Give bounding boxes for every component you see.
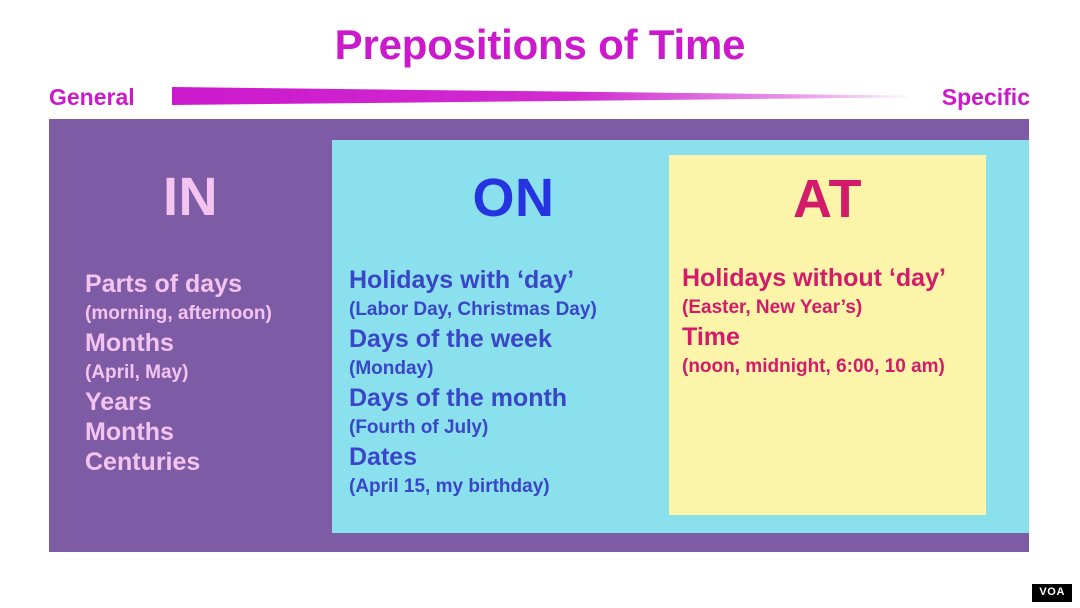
- generality-scale: General Specific: [49, 82, 1030, 112]
- scale-label-general: General: [49, 82, 135, 112]
- item-main-text: Holidays without ‘day’: [682, 263, 986, 293]
- list-item: Months (April, May): [85, 328, 330, 387]
- column-heading-on: ON: [332, 171, 695, 225]
- tapering-gradient-arrow: [172, 82, 907, 112]
- item-main-text: Centuries: [85, 447, 330, 477]
- item-main-text: Months: [85, 328, 330, 358]
- column-panel-on: ON Holidays with ‘day’ (Labor Day, Chris…: [332, 140, 1029, 533]
- page-title: Prepositions of Time: [0, 24, 1080, 66]
- column-panel-in: IN Parts of days (morning, afternoon) Mo…: [49, 119, 1029, 552]
- list-item: Years: [85, 387, 330, 417]
- list-item: Days of the month (Fourth of July): [349, 383, 695, 442]
- item-list-in: Parts of days (morning, afternoon) Month…: [85, 269, 330, 477]
- column-heading-in: IN: [49, 170, 332, 224]
- item-main-text: Years: [85, 387, 330, 417]
- item-sub-text: (Easter, New Year’s): [682, 293, 986, 322]
- item-main-text: Months: [85, 417, 330, 447]
- item-sub-text: (April 15, my birthday): [349, 472, 695, 501]
- list-item: Days of the week (Monday): [349, 324, 695, 383]
- column-in-content: IN Parts of days (morning, afternoon) Mo…: [49, 119, 332, 552]
- item-sub-text: (noon, midnight, 6:00, 10 am): [682, 352, 986, 381]
- list-item: Holidays without ‘day’ (Easter, New Year…: [682, 263, 986, 322]
- item-sub-text: (Monday): [349, 354, 695, 383]
- slide-canvas: Prepositions of Time General Specific I: [0, 0, 1080, 608]
- item-main-text: Time: [682, 322, 986, 352]
- voa-watermark: VOA: [1032, 584, 1072, 602]
- item-sub-text: (Fourth of July): [349, 413, 695, 442]
- list-item: Months: [85, 417, 330, 447]
- item-main-text: Days of the week: [349, 324, 695, 354]
- list-item: Parts of days (morning, afternoon): [85, 269, 330, 328]
- item-main-text: Holidays with ‘day’: [349, 265, 695, 295]
- item-main-text: Dates: [349, 442, 695, 472]
- item-list-on: Holidays with ‘day’ (Labor Day, Christma…: [349, 265, 695, 501]
- item-list-at: Holidays without ‘day’ (Easter, New Year…: [682, 263, 986, 381]
- list-item: Centuries: [85, 447, 330, 477]
- column-heading-at: AT: [669, 172, 986, 226]
- list-item: Dates (April 15, my birthday): [349, 442, 695, 501]
- list-item: Holidays with ‘day’ (Labor Day, Christma…: [349, 265, 695, 324]
- item-sub-text: (Labor Day, Christmas Day): [349, 295, 695, 324]
- item-sub-text: (morning, afternoon): [85, 299, 330, 328]
- column-panel-at: AT Holidays without ‘day’ (Easter, New Y…: [669, 155, 986, 515]
- item-sub-text: (April, May): [85, 358, 330, 387]
- scale-label-specific: Specific: [942, 82, 1030, 112]
- item-main-text: Days of the month: [349, 383, 695, 413]
- list-item: Time (noon, midnight, 6:00, 10 am): [682, 322, 986, 381]
- item-main-text: Parts of days: [85, 269, 330, 299]
